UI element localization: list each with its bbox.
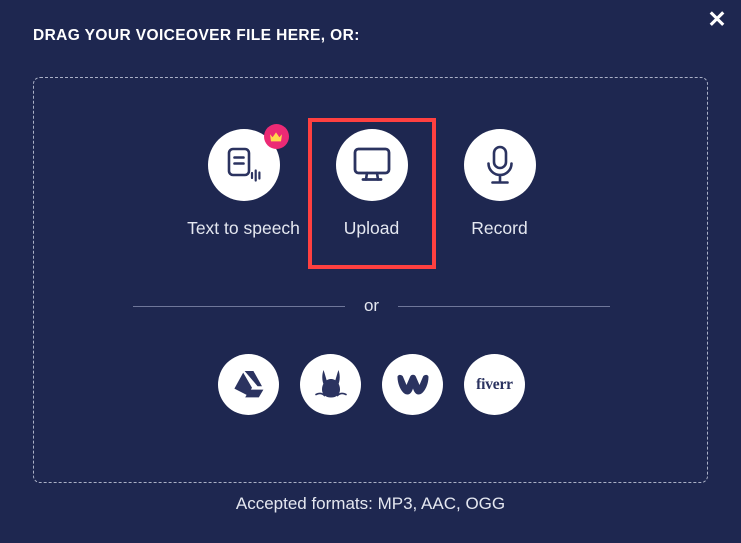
accepted-formats-text: Accepted formats: MP3, AAC, OGG [0, 494, 741, 514]
option-text-to-speech[interactable]: Text to speech [180, 118, 308, 239]
upload-options-row: Text to speech Upload [34, 118, 709, 308]
text-to-speech-circle [208, 129, 280, 201]
divider-label: or [345, 296, 398, 316]
option-label: Upload [344, 218, 399, 239]
option-label: Record [471, 218, 527, 239]
close-icon[interactable]: ✕ [701, 3, 733, 35]
google-drive-icon [233, 370, 265, 399]
pro-badge [264, 124, 289, 149]
service-voicebunny[interactable] [300, 354, 361, 415]
voiceover-upload-modal: ✕ DRAG YOUR VOICEOVER FILE HERE, OR: [0, 0, 741, 543]
desktop-monitor-icon [350, 146, 394, 184]
microphone-icon [482, 144, 518, 186]
record-circle [464, 129, 536, 201]
voices-w-icon [396, 374, 430, 396]
divider-line-right [398, 306, 610, 307]
external-services-row: fiverr [34, 354, 709, 415]
option-upload[interactable]: Upload [308, 118, 436, 269]
service-google-drive[interactable] [218, 354, 279, 415]
document-soundwave-icon [223, 145, 265, 185]
option-record[interactable]: Record [436, 118, 564, 239]
divider-line-left [133, 306, 345, 307]
or-divider: or [34, 296, 709, 316]
crown-icon [269, 131, 283, 143]
fiverr-wordmark: fiverr [476, 376, 513, 394]
upload-circle [336, 129, 408, 201]
service-fiverr[interactable]: fiverr [464, 354, 525, 415]
service-voices[interactable] [382, 354, 443, 415]
bunny-icon [314, 368, 348, 402]
page-title: DRAG YOUR VOICEOVER FILE HERE, OR: [33, 27, 360, 45]
file-dropzone[interactable]: Text to speech Upload [33, 77, 708, 483]
option-label: Text to speech [187, 218, 300, 239]
